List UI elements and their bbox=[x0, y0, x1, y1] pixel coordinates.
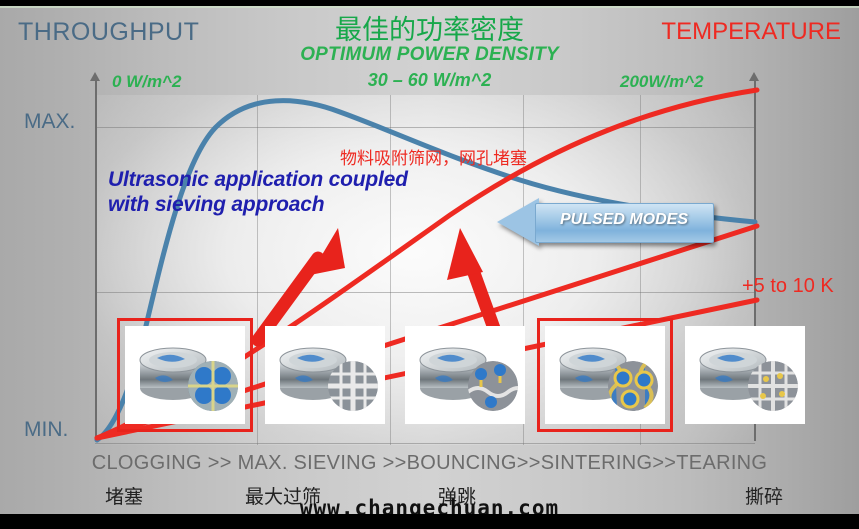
letterbox-top bbox=[0, 0, 859, 6]
ultrasonic-note: Ultrasonic application coupled with siev… bbox=[108, 168, 408, 218]
ultrasonic-note-line1: Ultrasonic application coupled bbox=[108, 168, 408, 193]
power-min-label: 0 W/m^2 bbox=[112, 72, 181, 92]
thumbnail-tearing[interactable] bbox=[685, 326, 805, 424]
thumbnail-bouncing[interactable] bbox=[405, 326, 525, 424]
pulsed-modes-label: PULSED MODES bbox=[543, 211, 705, 229]
chinese-title: 最佳的功率密度 bbox=[0, 8, 859, 47]
gridline-vertical-1 bbox=[257, 95, 258, 445]
gridline-horizontal-min bbox=[95, 443, 755, 444]
arrow-left-icon bbox=[497, 198, 539, 246]
thumbnail-max-sieving[interactable] bbox=[265, 326, 385, 424]
y-axis-min-label: MIN. bbox=[24, 418, 68, 442]
process-sequence-label: CLOGGING >> MAX. SIEVING >>BOUNCING>>SIN… bbox=[0, 452, 859, 475]
pulsed-modes-arrow[interactable]: PULSED MODES bbox=[497, 198, 712, 246]
thumbnail-clogging[interactable] bbox=[125, 326, 245, 424]
gridline-horizontal-mid bbox=[95, 292, 755, 293]
letterbox-bottom bbox=[0, 514, 859, 529]
slide-canvas: THROUGHPUT TEMPERATURE 最佳的功率密度 OPTIMUM P… bbox=[0, 0, 859, 529]
y-axis-left bbox=[95, 78, 97, 441]
y-axis-max-label: MAX. bbox=[24, 110, 75, 134]
english-title: OPTIMUM POWER DENSITY bbox=[0, 44, 859, 66]
ultrasonic-note-line2: with sieving approach bbox=[108, 193, 408, 218]
temperature-delta-label: +5 to 10 K bbox=[742, 275, 834, 298]
thumbnail-sintering[interactable] bbox=[545, 326, 665, 424]
power-max-label: 200W/m^2 bbox=[620, 72, 704, 92]
clogging-note: 物料吸附筛网，网孔堵塞 bbox=[340, 144, 527, 169]
gridline-horizontal-max bbox=[95, 127, 755, 128]
